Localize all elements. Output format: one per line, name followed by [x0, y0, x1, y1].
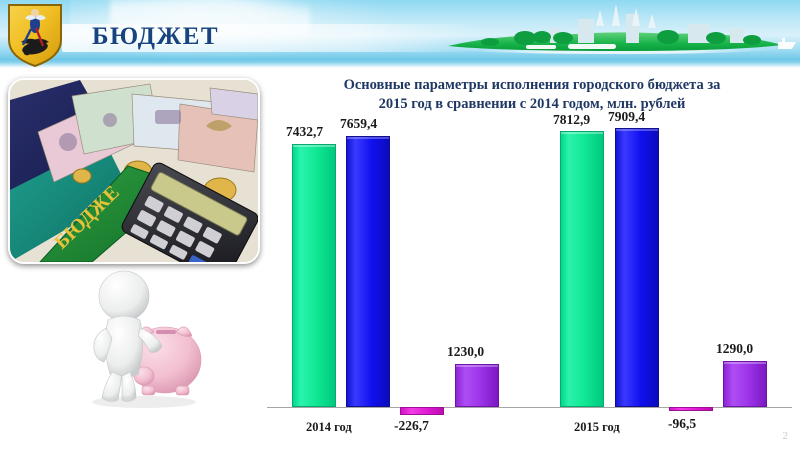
bar-2014-dohody [292, 144, 336, 407]
budget-bar-chart: Основные параметры исполнения городского… [262, 70, 800, 450]
category-label-2014: 2014 год [306, 420, 352, 435]
category-label-2015: 2015 год [574, 420, 620, 435]
label-2015-rashody: 7909,4 [608, 109, 645, 125]
piggy-bank-figure-illustration [72, 258, 222, 410]
page-title: БЮДЖЕТ [92, 23, 219, 51]
label-2015-deficit: -96,5 [668, 416, 696, 432]
label-2014-dohody: 7432,7 [286, 124, 323, 140]
bar-2014-deficit [400, 407, 444, 415]
bar-2015-rashody [615, 128, 659, 407]
label-2015-dolg: 1290,0 [716, 341, 753, 357]
arkhangelsk-coat-of-arms-icon [5, 2, 65, 68]
plot-area: 7432,7 7659,4 -226,7 1230,0 2014 год 781… [262, 122, 800, 437]
chart-title: Основные параметры исполнения городского… [276, 76, 788, 114]
baseline-axis [267, 407, 792, 408]
budget-money-photo: БЮДЖЕ [8, 78, 260, 264]
bar-2014-rashody [346, 136, 390, 407]
chart-title-line1: Основные параметры исполнения городского… [344, 77, 721, 93]
money-photo-illustration: БЮДЖЕ [10, 80, 258, 262]
header-banner: БЮДЖЕТ [0, 0, 800, 68]
page-number: 2 [783, 430, 789, 442]
bar-2014-dolg [455, 364, 499, 407]
bar-2015-deficit [669, 407, 713, 411]
city-skyline-icon [430, 0, 800, 68]
label-2014-deficit: -226,7 [394, 418, 429, 434]
label-2015-dohody: 7812,9 [553, 112, 590, 128]
label-2014-rashody: 7659,4 [340, 116, 377, 132]
slide: БЮДЖЕТ [0, 0, 800, 450]
banner-divider [0, 62, 800, 68]
bar-2015-dolg [723, 361, 767, 407]
label-2014-dolg: 1230,0 [447, 344, 484, 360]
bar-2015-dohody [560, 131, 604, 407]
